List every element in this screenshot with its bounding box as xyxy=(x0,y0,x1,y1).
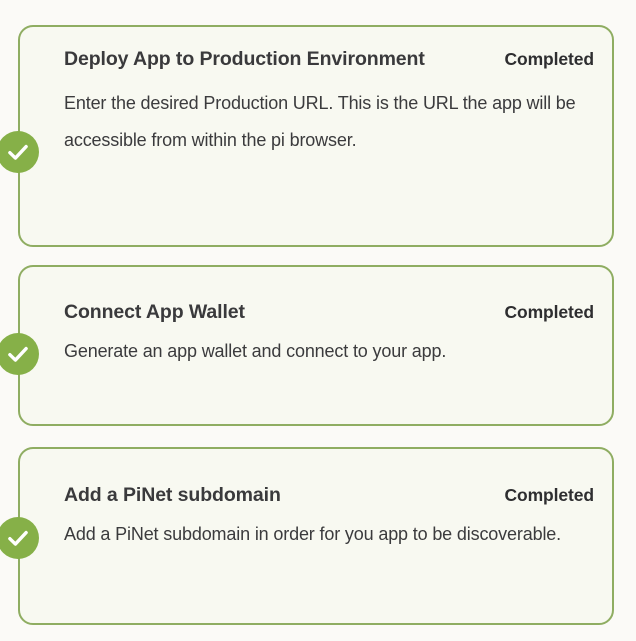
check-circle-icon xyxy=(0,333,39,375)
card-content: Add a PiNet subdomain Completed Add a Pi… xyxy=(20,449,612,623)
card-header: Deploy App to Production Environment Com… xyxy=(64,27,594,74)
check-circle-icon xyxy=(0,131,39,173)
card-description: Add a PiNet subdomain in order for you a… xyxy=(64,516,594,553)
card-title: Deploy App to Production Environment xyxy=(64,44,425,74)
checklist-card[interactable]: Connect App Wallet Completed Generate an… xyxy=(18,265,614,426)
card-header: Add a PiNet subdomain Completed xyxy=(64,449,594,510)
card-header: Connect App Wallet Completed xyxy=(64,267,594,327)
card-description: Enter the desired Production URL. This i… xyxy=(64,85,594,159)
card-title: Add a PiNet subdomain xyxy=(64,480,281,510)
check-circle-icon xyxy=(0,517,39,559)
card-title: Connect App Wallet xyxy=(64,297,245,327)
status-badge: Completed xyxy=(504,480,594,510)
checklist-card[interactable]: Deploy App to Production Environment Com… xyxy=(18,25,614,247)
checklist-card[interactable]: Add a PiNet subdomain Completed Add a Pi… xyxy=(18,447,614,625)
card-content: Deploy App to Production Environment Com… xyxy=(20,27,612,245)
card-description: Generate an app wallet and connect to yo… xyxy=(64,333,594,370)
checklist: Deploy App to Production Environment Com… xyxy=(0,0,636,641)
status-badge: Completed xyxy=(504,297,594,327)
card-content: Connect App Wallet Completed Generate an… xyxy=(20,267,612,424)
status-badge: Completed xyxy=(504,44,594,74)
